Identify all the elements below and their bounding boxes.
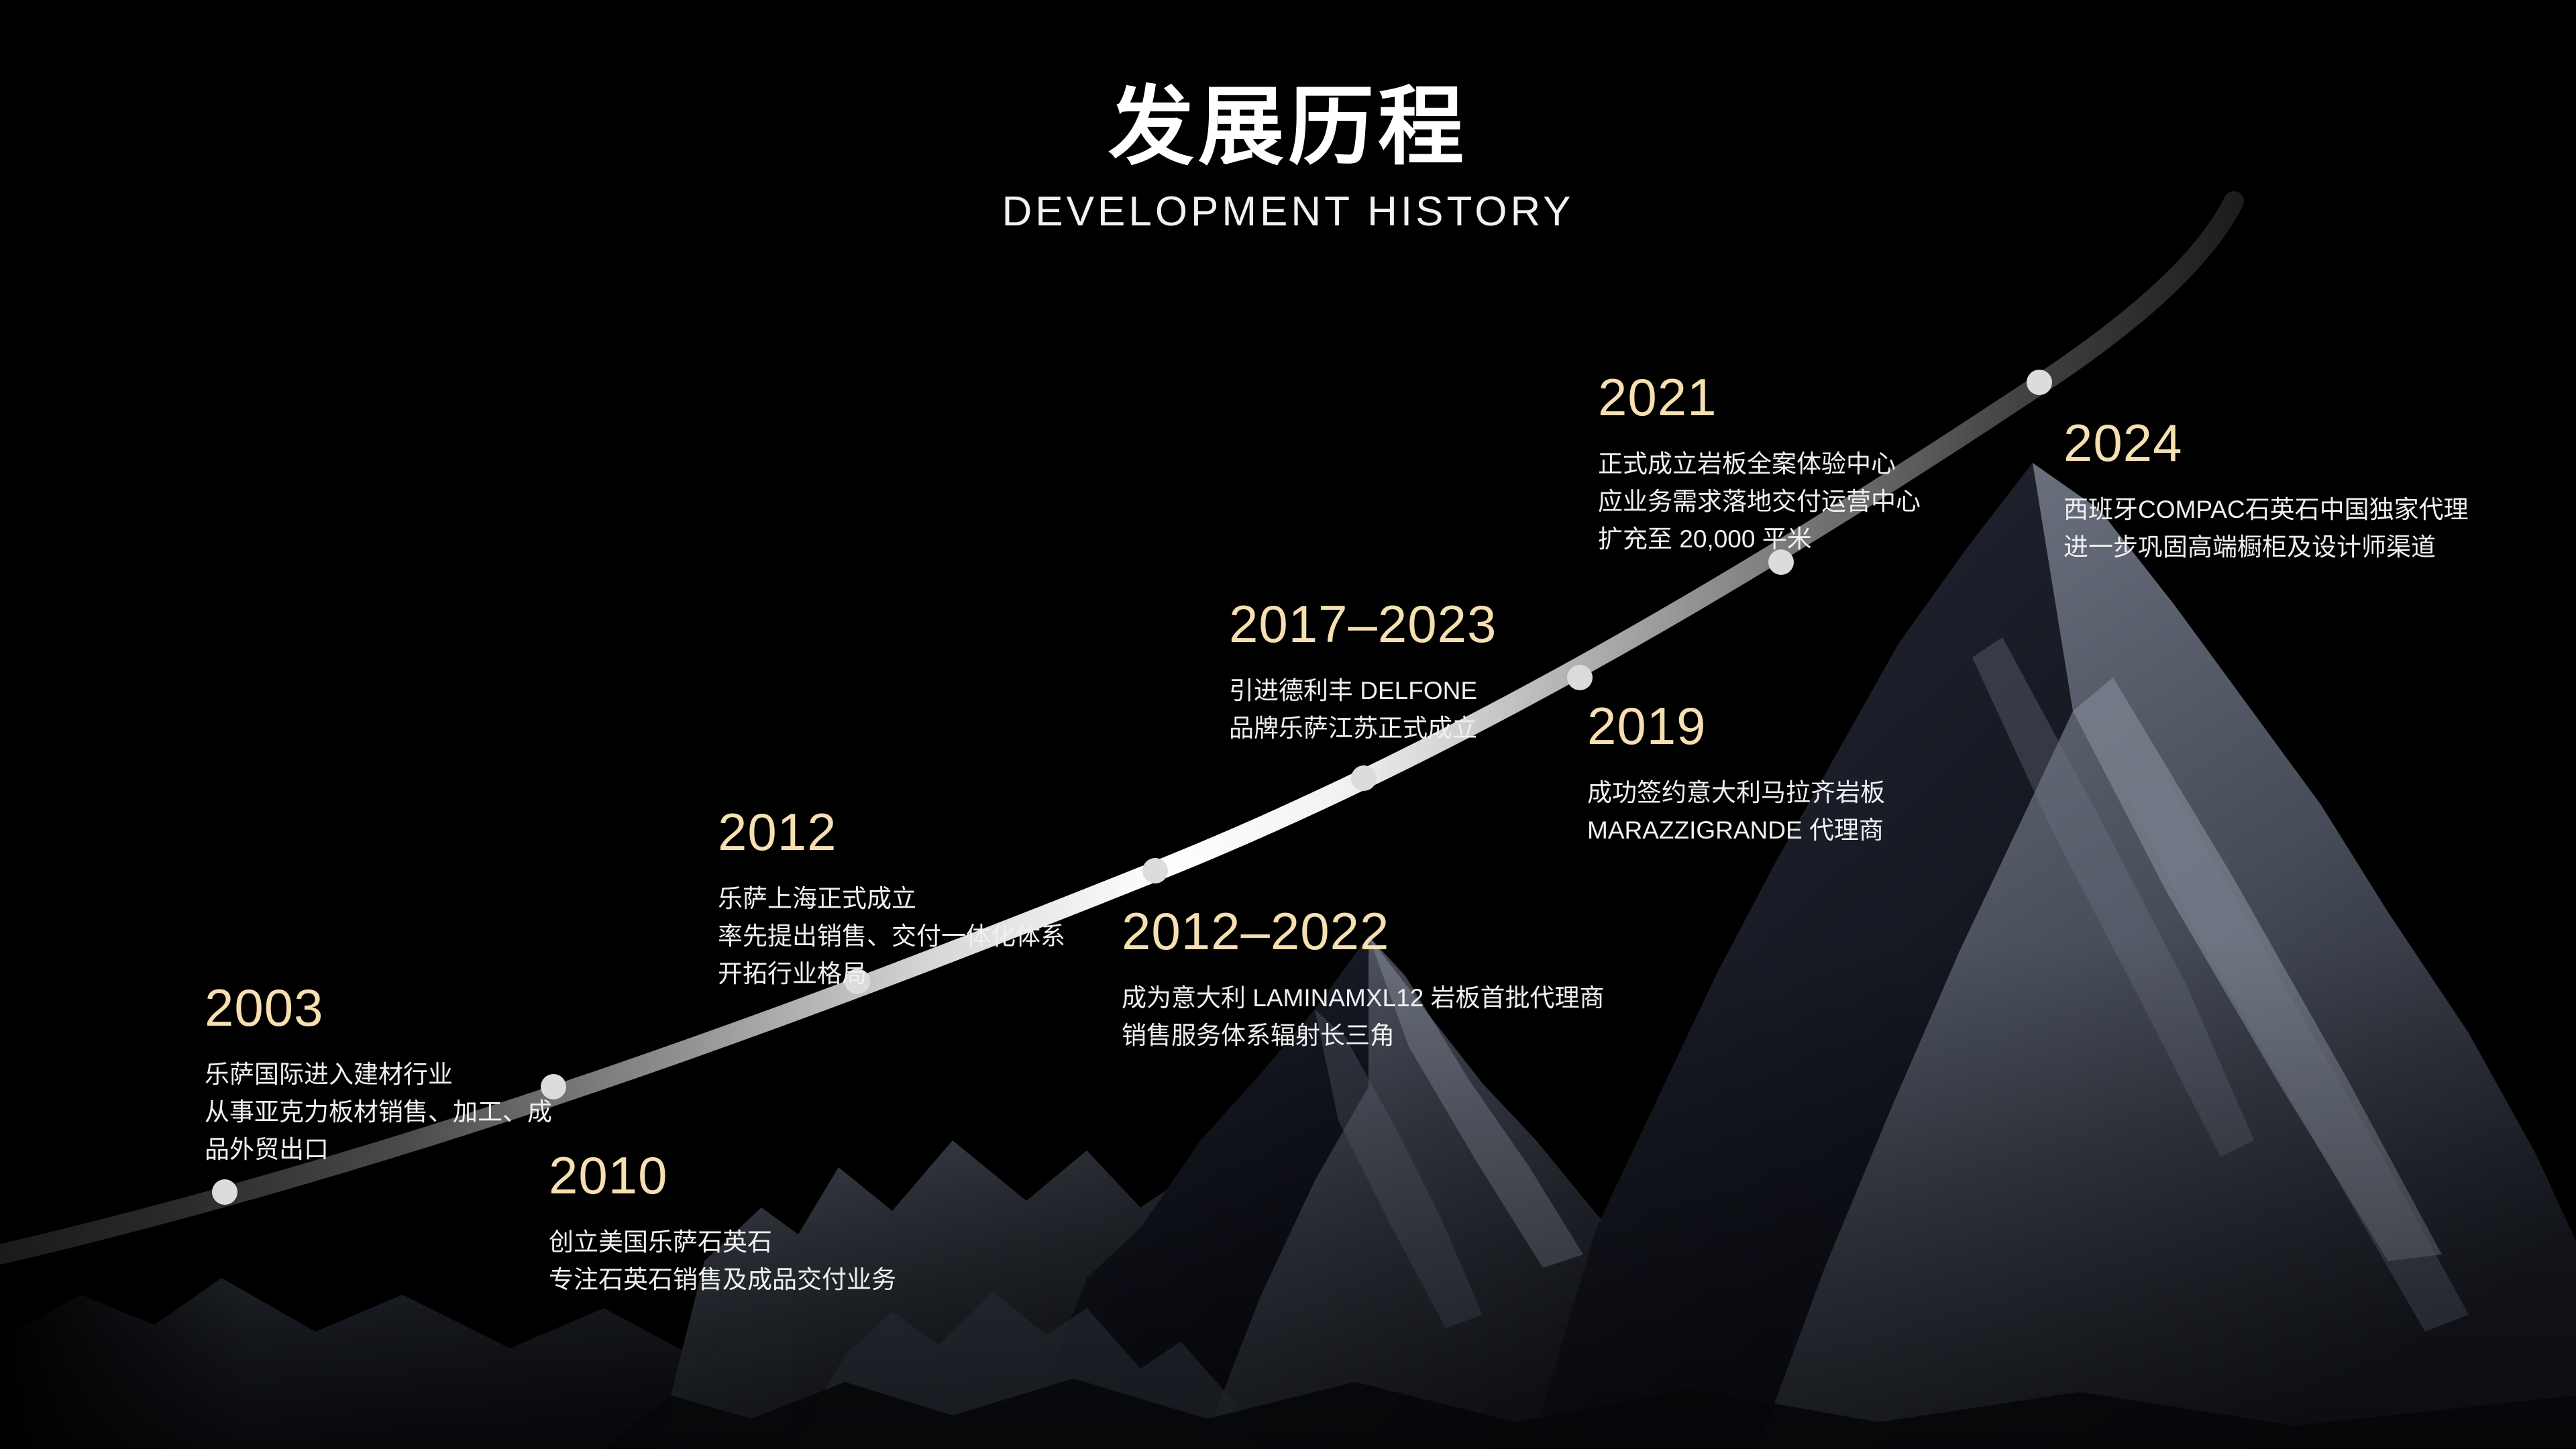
- milestone-description: 乐萨国际进入建材行业 从事亚克力板材销售、加工、成 品外贸出口: [205, 1056, 552, 1169]
- milestone-line: 扩充至 20,000 平米: [1598, 521, 1921, 558]
- page-header: 发展历程 DEVELOPMENT HISTORY: [0, 79, 2576, 237]
- milestone-year: 2012: [718, 805, 1065, 860]
- timeline-dot-2012-2022: [1142, 858, 1168, 883]
- milestone-2010[interactable]: 2010 创立美国乐萨石英石 专注石英石销售及成品交付业务: [549, 1148, 896, 1299]
- milestone-line: 创立美国乐萨石英石: [549, 1224, 896, 1261]
- milestone-2012[interactable]: 2012 乐萨上海正式成立 率先提出销售、交付一体化体系 开拓行业格局: [718, 805, 1065, 994]
- milestone-2021[interactable]: 2021 正式成立岩板全案体验中心 应业务需求落地交付运营中心 扩充至 20,0…: [1598, 370, 1921, 559]
- milestone-description: 乐萨上海正式成立 率先提出销售、交付一体化体系 开拓行业格局: [718, 880, 1065, 994]
- timeline-dot-2017-2023: [1351, 765, 1377, 791]
- timeline-dot-2019: [1567, 665, 1593, 690]
- milestone-line: 品牌乐萨江苏正式成立: [1229, 710, 1497, 747]
- milestone-line: 引进德利丰 DELFONE: [1229, 672, 1497, 710]
- milestone-line: 正式成立岩板全案体验中心: [1598, 445, 1921, 483]
- milestone-2012-2022[interactable]: 2012–2022 成为意大利 LAMINAMXL12 岩板首批代理商 销售服务…: [1122, 904, 1605, 1055]
- milestone-year: 2012–2022: [1122, 904, 1605, 959]
- slide-canvas: 发展历程 DEVELOPMENT HISTORY 2003 乐萨国际进入建材行业…: [0, 0, 2576, 1449]
- milestone-2019[interactable]: 2019 成功签约意大利马拉齐岩板 MARAZZIGRANDE 代理商: [1587, 699, 1885, 849]
- milestone-2003[interactable]: 2003 乐萨国际进入建材行业 从事亚克力板材销售、加工、成 品外贸出口: [205, 981, 552, 1169]
- milestone-year: 2003: [205, 981, 552, 1036]
- milestone-year: 2024: [2063, 416, 2469, 471]
- page-title-cn: 发展历程: [0, 79, 2576, 175]
- milestone-2024[interactable]: 2024 西班牙COMPAC石英石中国独家代理 进一步巩固高端橱柜及设计师渠道: [2063, 416, 2469, 566]
- milestone-line: 品外贸出口: [205, 1131, 552, 1169]
- milestone-line: 乐萨国际进入建材行业: [205, 1056, 552, 1093]
- timeline-dot-2003: [212, 1179, 237, 1205]
- milestone-line: 成功签约意大利马拉齐岩板: [1587, 774, 1885, 812]
- milestone-line: MARAZZIGRANDE 代理商: [1587, 812, 1885, 849]
- milestone-year: 2017–2023: [1229, 597, 1497, 652]
- milestone-2017-2023[interactable]: 2017–2023 引进德利丰 DELFONE 品牌乐萨江苏正式成立: [1229, 597, 1497, 747]
- milestone-description: 正式成立岩板全案体验中心 应业务需求落地交付运营中心 扩充至 20,000 平米: [1598, 445, 1921, 559]
- page-subtitle-en: DEVELOPMENT HISTORY: [0, 187, 2576, 237]
- milestone-line: 从事亚克力板材销售、加工、成: [205, 1093, 552, 1131]
- milestone-line: 销售服务体系辐射长三角: [1122, 1017, 1605, 1055]
- milestone-line: 应业务需求落地交付运营中心: [1598, 483, 1921, 521]
- milestone-description: 西班牙COMPAC石英石中国独家代理 进一步巩固高端橱柜及设计师渠道: [2063, 491, 2469, 566]
- milestone-line: 乐萨上海正式成立: [718, 880, 1065, 918]
- timeline-dot-2024: [2027, 370, 2052, 395]
- milestone-line: 西班牙COMPAC石英石中国独家代理: [2063, 491, 2469, 529]
- milestone-line: 成为意大利 LAMINAMXL12 岩板首批代理商: [1122, 979, 1605, 1017]
- milestone-description: 成为意大利 LAMINAMXL12 岩板首批代理商 销售服务体系辐射长三角: [1122, 979, 1605, 1055]
- milestone-year: 2010: [549, 1148, 896, 1203]
- milestone-year: 2021: [1598, 370, 1921, 425]
- milestone-year: 2019: [1587, 699, 1885, 754]
- milestone-line: 专注石英石销售及成品交付业务: [549, 1261, 896, 1299]
- milestone-description: 成功签约意大利马拉齐岩板 MARAZZIGRANDE 代理商: [1587, 774, 1885, 849]
- milestone-description: 引进德利丰 DELFONE 品牌乐萨江苏正式成立: [1229, 672, 1497, 747]
- milestone-line: 开拓行业格局: [718, 955, 1065, 993]
- milestone-line: 率先提出销售、交付一体化体系: [718, 918, 1065, 955]
- milestone-description: 创立美国乐萨石英石 专注石英石销售及成品交付业务: [549, 1224, 896, 1299]
- milestone-line: 进一步巩固高端橱柜及设计师渠道: [2063, 529, 2469, 566]
